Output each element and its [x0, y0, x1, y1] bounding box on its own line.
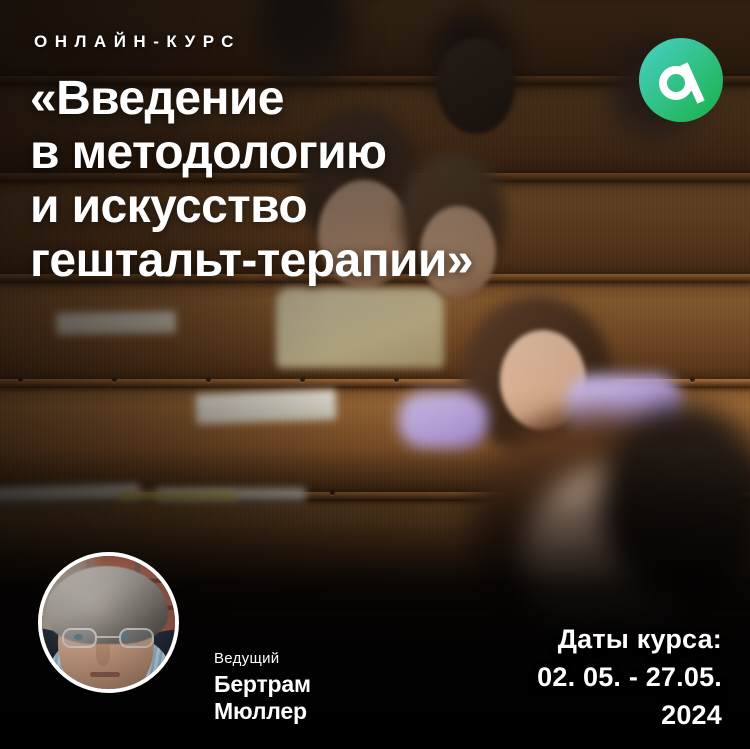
page-title: «Введение в методологию и искусство гешт… [30, 72, 590, 288]
presenter-role-label: Ведущий [214, 650, 311, 667]
presenter-name: Бертрам Мюллер [214, 671, 311, 725]
title-line-2: в методологию [30, 126, 590, 180]
title-line-1: «Введение [30, 72, 590, 126]
course-format-kicker: ОНЛАЙН-КУРС [34, 32, 241, 52]
avatar-photo [42, 556, 175, 689]
course-dates-year: 2024 [537, 696, 722, 734]
avatar [38, 552, 179, 693]
title-line-3: и искусство [30, 180, 590, 234]
presenter-info: Ведущий Бертрам Мюллер [214, 650, 311, 725]
course-dates-label: Даты курса: [537, 620, 722, 658]
presenter-last-name: Мюллер [214, 698, 311, 725]
course-promo-poster: ОНЛАЙН-КУРС «Введение в методологию и ис… [0, 0, 750, 749]
course-dates: Даты курса: 02. 05. - 27.05. 2024 [537, 620, 722, 734]
avatar-vignette [42, 556, 175, 689]
presenter-first-name: Бертрам [214, 671, 311, 698]
course-dates-range: 02. 05. - 27.05. [537, 658, 722, 696]
alpha-logo-icon[interactable] [639, 38, 723, 122]
title-line-4: гештальт-терапии» [30, 234, 590, 288]
